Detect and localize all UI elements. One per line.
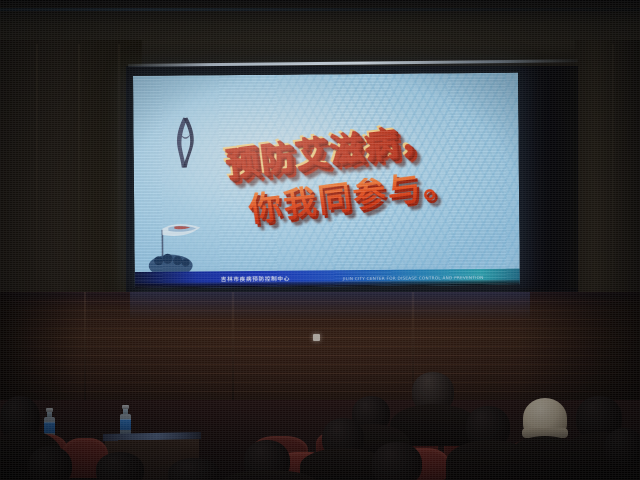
wall-light-dot-icon	[313, 334, 320, 341]
wood-shadow-right	[520, 292, 640, 402]
wood-panel-divider-3	[84, 292, 86, 402]
audience-head-9	[28, 446, 72, 480]
ceiling-seam	[0, 8, 640, 11]
bottle-label	[120, 419, 131, 430]
flag-illustration	[148, 215, 215, 278]
audience-head-10	[96, 452, 144, 480]
audience-head-5	[372, 442, 422, 480]
audience-head-11	[168, 458, 220, 480]
audience-head-8	[604, 428, 640, 468]
projected-slide: 预防艾滋病， 你我同参与。 吉林市疾病预防控制中心 JILIN CITY CEN…	[133, 73, 520, 288]
bottle-label	[44, 422, 55, 433]
aids-awareness-ribbon-icon	[170, 115, 200, 169]
wood-blue-light-spill	[130, 292, 530, 320]
wood-shadow-left	[0, 292, 80, 402]
screen-dark-area-right	[517, 68, 577, 292]
auditorium-photo: 预防艾滋病， 你我同参与。 吉林市疾病预防控制中心 JILIN CITY CEN…	[0, 0, 640, 480]
